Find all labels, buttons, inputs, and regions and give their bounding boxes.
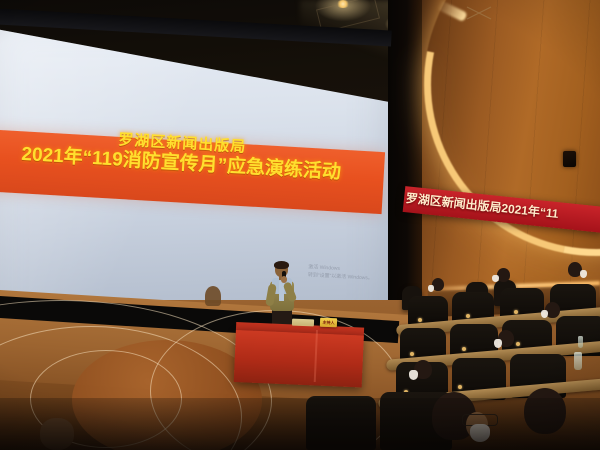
- foreground-shadow: [0, 398, 600, 450]
- person-hand: [281, 276, 287, 283]
- wall-fixture: [563, 151, 576, 167]
- seat-knob: [458, 385, 462, 389]
- ceiling-rigging-icon: [466, 6, 492, 20]
- auditorium-photo: 罗湖区新闻出版局2021年“11 罗湖区新闻出版局 2021年“119消防宣传月…: [0, 0, 600, 450]
- face-mask: [409, 370, 418, 380]
- face-mask: [580, 270, 587, 278]
- seat-knob: [514, 310, 518, 314]
- seat-knob: [516, 342, 520, 346]
- table-cloth: [234, 330, 364, 388]
- face-mask: [494, 339, 502, 348]
- face-mask: [428, 285, 434, 292]
- papers-on-table: [292, 319, 314, 327]
- seat-knob: [410, 352, 414, 356]
- face-mask: [541, 310, 548, 318]
- face-mask: [492, 275, 499, 282]
- seat-knob: [462, 347, 466, 351]
- wall-shadow-column: [388, 0, 422, 300]
- seated-person-silhouette: [205, 286, 221, 306]
- audience-head: [497, 268, 510, 282]
- person-hair: [274, 261, 289, 269]
- seat-knob: [466, 314, 470, 318]
- water-bottle: [574, 352, 582, 370]
- nameplate-text: 主持人: [321, 319, 336, 327]
- seat-knob: [418, 318, 422, 322]
- water-bottle: [578, 336, 583, 348]
